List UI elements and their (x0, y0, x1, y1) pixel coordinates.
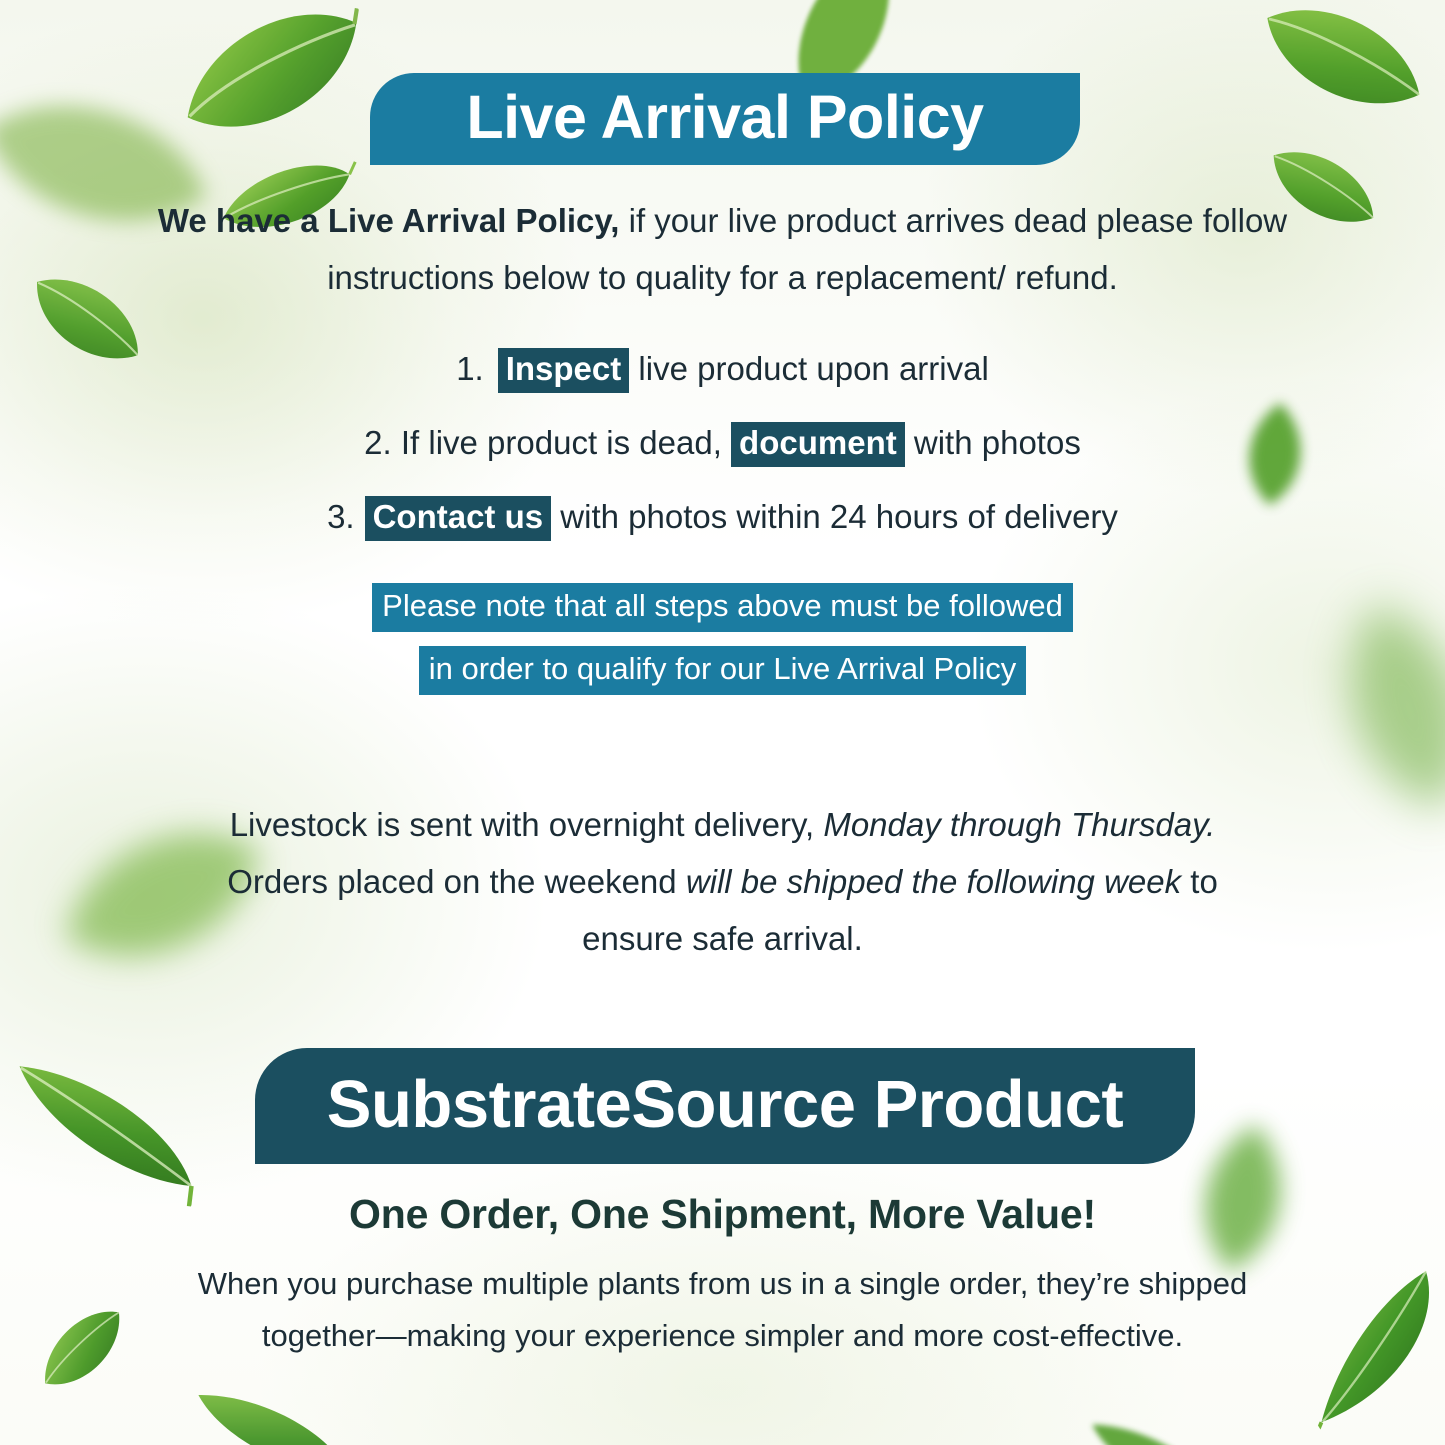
note-line-2: in order to qualify for our Live Arrival… (419, 646, 1027, 695)
step-number: 1. (456, 350, 484, 387)
list-item: 3.Contact us with photos within 24 hours… (140, 496, 1305, 541)
leaf-icon (1257, 1234, 1445, 1445)
policy-note: Please note that all steps above must be… (140, 583, 1305, 709)
leaf-icon (1071, 1391, 1243, 1445)
leaf-icon (1287, 570, 1445, 844)
step-before: If live product is dead, (392, 424, 731, 461)
live-arrival-policy-banner: Live Arrival Policy (370, 73, 1080, 165)
step-number: 2. (364, 424, 392, 461)
step-after: live product upon arrival (629, 350, 989, 387)
list-item: 2. If live product is dead, document wit… (140, 422, 1305, 467)
substratesource-product-banner: SubstrateSource Product (255, 1048, 1195, 1164)
leaf-icon (138, 0, 408, 201)
livestock-part-2: Orders placed on the weekend (227, 863, 686, 900)
livestock-italic-2: will be shipped the following week (686, 863, 1181, 900)
step-after: with photos (905, 424, 1081, 461)
leaf-icon (176, 1356, 375, 1445)
leaf-icon (8, 1274, 157, 1422)
intro-bold-lead: We have a Live Arrival Policy, (158, 202, 620, 239)
intro-paragraph: We have a Live Arrival Policy, if your l… (150, 193, 1295, 307)
step-number: 3. (327, 498, 355, 535)
note-line-1: Please note that all steps above must be… (372, 583, 1073, 632)
list-item: 1.Inspect live product upon arrival (140, 348, 1305, 393)
step-highlight-inspect[interactable]: Inspect (498, 348, 630, 393)
step-highlight-contact-us[interactable]: Contact us (365, 496, 552, 541)
step-after: with photos within 24 hours of delivery (551, 498, 1118, 535)
live-arrival-policy-poster: Live Arrival Policy We have a Live Arriv… (0, 0, 1445, 1445)
policy-steps-list: 1.Inspect live product upon arrival 2. I… (140, 348, 1305, 570)
live-arrival-policy-title: Live Arrival Policy (466, 87, 983, 148)
livestock-part-1: Livestock is sent with overnight deliver… (230, 806, 824, 843)
step-highlight-document[interactable]: document (731, 422, 905, 467)
value-heading: One Order, One Shipment, More Value! (150, 1192, 1295, 1237)
substratesource-product-title: SubstrateSource Product (327, 1071, 1123, 1138)
leaf-icon (1228, 0, 1445, 163)
livestock-italic-1: Monday through Thursday. (823, 806, 1215, 843)
livestock-shipping-paragraph: Livestock is sent with overnight deliver… (200, 797, 1245, 967)
value-paragraph: When you purchase multiple plants from u… (165, 1258, 1280, 1362)
